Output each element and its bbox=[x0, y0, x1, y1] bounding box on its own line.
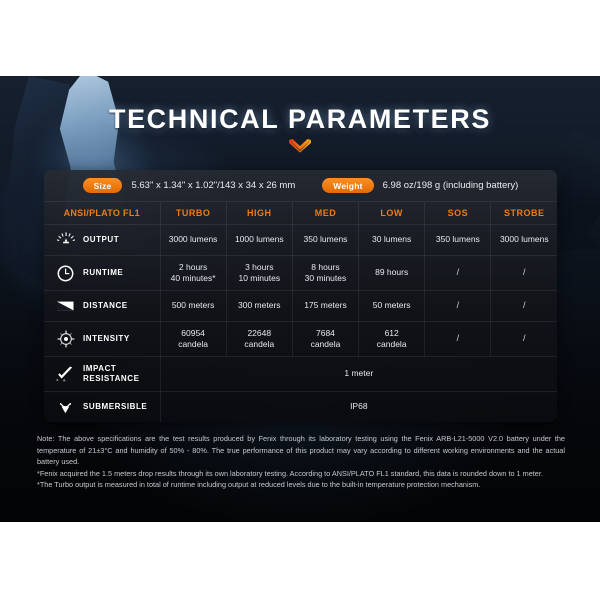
table-body: OUTPUT 3000 lumens 1000 lumens 350 lumen… bbox=[44, 225, 557, 423]
table-row: OUTPUT 3000 lumens 1000 lumens 350 lumen… bbox=[44, 225, 557, 256]
note-line-2: *Fenix acquired the 1.5 meters drop resu… bbox=[37, 468, 565, 480]
column-header-strobe: STROBE bbox=[491, 202, 557, 225]
distance-strobe: / bbox=[491, 291, 557, 322]
size-badge: Size bbox=[83, 178, 123, 193]
specifications-panel: Size 5.63" x 1.34" x 1.02"/143 x 34 x 26… bbox=[44, 170, 557, 422]
distance-high: 300 meters bbox=[226, 291, 292, 322]
beam-cone-icon bbox=[56, 297, 75, 316]
row-header-runtime: RUNTIME bbox=[44, 256, 160, 291]
row-header-impact-resistance: IMPACTRESISTANCE bbox=[44, 357, 160, 392]
table-row: DISTANCE 500 meters 300 meters 175 meter… bbox=[44, 291, 557, 322]
title-block: TECHNICAL PARAMETERS bbox=[0, 104, 600, 153]
column-header-turbo: TURBO bbox=[160, 202, 226, 225]
output-low: 30 lumens bbox=[359, 225, 425, 256]
output-turbo: 3000 lumens bbox=[160, 225, 226, 256]
intensity-high: 22648candela bbox=[226, 322, 292, 357]
column-header-low: LOW bbox=[359, 202, 425, 225]
runtime-high: 3 hours10 minutes bbox=[226, 256, 292, 291]
output-med: 350 lumens bbox=[292, 225, 358, 256]
column-header-med: MED bbox=[292, 202, 358, 225]
intensity-med: 7684candela bbox=[292, 322, 358, 357]
output-high: 1000 lumens bbox=[226, 225, 292, 256]
intensity-strobe: / bbox=[491, 322, 557, 357]
row-label-distance: DISTANCE bbox=[83, 301, 128, 311]
intensity-sos: / bbox=[425, 322, 491, 357]
intensity-turbo: 60954candela bbox=[160, 322, 226, 357]
check-drop-icon bbox=[56, 365, 75, 384]
row-label-output: OUTPUT bbox=[83, 235, 119, 245]
chevron-down-icon bbox=[0, 138, 600, 153]
page-root: TECHNICAL PARAMETERS Size 5.63" x 1.34" … bbox=[0, 0, 600, 600]
row-header-submersible: SUBMERSIBLE bbox=[44, 392, 160, 423]
distance-turbo: 500 meters bbox=[160, 291, 226, 322]
size-value: 5.63" x 1.34" x 1.02"/143 x 34 x 26 mm bbox=[131, 180, 295, 191]
table-header: ANSI/PLATO FL1 TURBO HIGH MED LOW SOS ST… bbox=[44, 202, 557, 225]
row-header-distance: DISTANCE bbox=[44, 291, 160, 322]
runtime-turbo: 2 hours40 minutes* bbox=[160, 256, 226, 291]
impact-resistance-value: 1 meter bbox=[160, 357, 557, 392]
weight-badge: Weight bbox=[322, 178, 373, 193]
column-header-sos: SOS bbox=[425, 202, 491, 225]
note-line-1: Note: The above specifications are the t… bbox=[37, 433, 565, 468]
row-label-submersible: SUBMERSIBLE bbox=[83, 402, 147, 412]
table-row: INTENSITY 60954candela 22648candela 7684… bbox=[44, 322, 557, 357]
table-row: RUNTIME 2 hours40 minutes* 3 hours10 min… bbox=[44, 256, 557, 291]
intensity-low: 612candela bbox=[359, 322, 425, 357]
runtime-med: 8 hours30 minutes bbox=[292, 256, 358, 291]
sun-burst-icon bbox=[56, 231, 75, 250]
runtime-strobe: / bbox=[491, 256, 557, 291]
column-header-high: HIGH bbox=[226, 202, 292, 225]
row-header-output: OUTPUT bbox=[44, 225, 160, 256]
note-line-3: *The Turbo output is measured in total o… bbox=[37, 479, 565, 491]
table-header-row: ANSI/PLATO FL1 TURBO HIGH MED LOW SOS ST… bbox=[44, 202, 557, 225]
size-weight-row: Size 5.63" x 1.34" x 1.02"/143 x 34 x 26… bbox=[44, 170, 557, 202]
clock-icon bbox=[56, 264, 75, 283]
crosshair-icon bbox=[56, 330, 75, 349]
submersible-value: IP68 bbox=[160, 392, 557, 423]
water-drop-icon bbox=[56, 398, 75, 417]
runtime-low: 89 hours bbox=[359, 256, 425, 291]
distance-sos: / bbox=[425, 291, 491, 322]
table-row: IMPACTRESISTANCE 1 meter bbox=[44, 357, 557, 392]
row-label-impact-resistance: IMPACTRESISTANCE bbox=[83, 364, 139, 384]
runtime-sos: / bbox=[425, 256, 491, 291]
row-header-intensity: INTENSITY bbox=[44, 322, 160, 357]
table-row: SUBMERSIBLE IP68 bbox=[44, 392, 557, 423]
notes-block: Note: The above specifications are the t… bbox=[37, 433, 565, 491]
output-sos: 350 lumens bbox=[425, 225, 491, 256]
row-label-runtime: RUNTIME bbox=[83, 268, 123, 278]
column-header-standard: ANSI/PLATO FL1 bbox=[44, 202, 160, 225]
specifications-table: ANSI/PLATO FL1 TURBO HIGH MED LOW SOS ST… bbox=[44, 202, 557, 422]
page-title: TECHNICAL PARAMETERS bbox=[109, 104, 491, 135]
output-strobe: 3000 lumens bbox=[491, 225, 557, 256]
weight-value: 6.98 oz/198 g (including battery) bbox=[383, 180, 519, 191]
distance-med: 175 meters bbox=[292, 291, 358, 322]
row-label-intensity: INTENSITY bbox=[83, 334, 130, 344]
distance-low: 50 meters bbox=[359, 291, 425, 322]
